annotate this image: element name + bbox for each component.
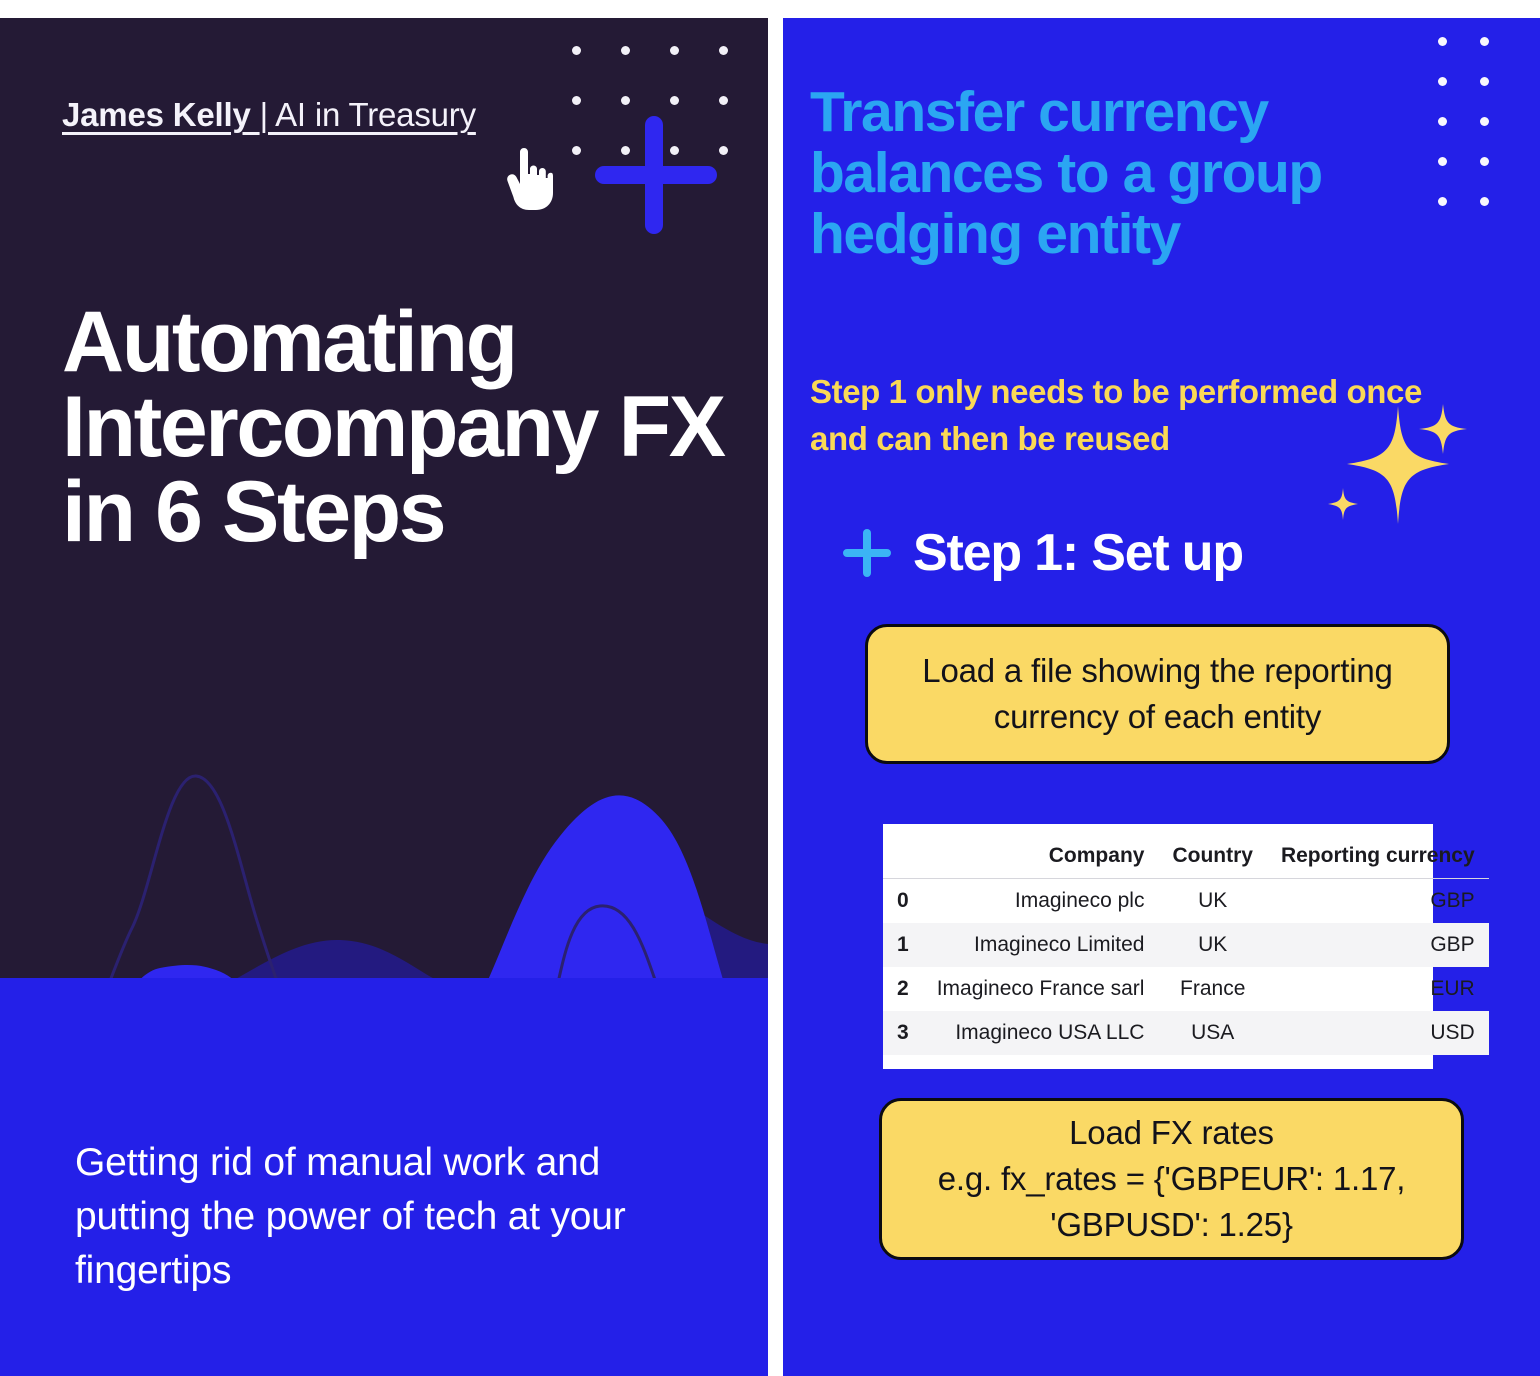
- grid-dot: [621, 46, 630, 55]
- table-row: 1 Imagineco Limited UK GBP: [883, 923, 1489, 967]
- cell-company: Imagineco Limited: [923, 923, 1159, 967]
- step-label: Step 1: Set up: [913, 523, 1243, 583]
- byline-author: James Kelly: [62, 96, 260, 133]
- sparkle-stars-icon: [1323, 396, 1488, 531]
- sparkle-medium: [1419, 404, 1467, 454]
- grid-dot: [1438, 37, 1447, 46]
- step-heading-row: Step 1: Set up: [843, 523, 1243, 583]
- grid-dot: [572, 146, 581, 155]
- slide-pair-canvas: James Kelly | AI in Treasury Automating …: [0, 0, 1540, 1376]
- grid-dot: [719, 96, 728, 105]
- cell-index: 0: [883, 879, 923, 924]
- grid-dot: [572, 46, 581, 55]
- cell-index: 2: [883, 967, 923, 1011]
- table-row: 2 Imagineco France sarl France EUR: [883, 967, 1489, 1011]
- cell-company: Imagineco USA LLC: [923, 1011, 1159, 1055]
- page-title: Automating Intercompany FX in 6 Steps: [62, 300, 742, 555]
- table-row: 3 Imagineco USA LLC USA USD: [883, 1011, 1489, 1055]
- grid-dot: [1480, 157, 1489, 166]
- card-load-fx-rates[interactable]: Load FX rates e.g. fx_rates = {'GBPEUR':…: [879, 1098, 1464, 1260]
- cell-country: UK: [1158, 923, 1267, 967]
- column-header-company: Company: [923, 836, 1159, 879]
- cell-company: Imagineco plc: [923, 879, 1159, 924]
- card-line-2: e.g. fx_rates = {'GBPEUR': 1.17,: [938, 1160, 1406, 1197]
- grid-dot: [1480, 37, 1489, 46]
- sparkle-small: [1328, 488, 1358, 520]
- grid-dot: [670, 96, 679, 105]
- column-header-index: [883, 836, 923, 879]
- byline-topic: | AI in Treasury: [260, 96, 476, 133]
- entity-currency-table: Company Country Reporting currency 0 Ima…: [883, 824, 1433, 1069]
- card-load-entity-file[interactable]: Load a file showing the reporting curren…: [865, 624, 1450, 764]
- cell-currency: GBP: [1267, 923, 1489, 967]
- column-header-country: Country: [1158, 836, 1267, 879]
- left-dark-background: James Kelly | AI in Treasury Automating …: [0, 18, 768, 978]
- table-header-row: Company Country Reporting currency: [883, 836, 1489, 879]
- left-subtitle: Getting rid of manual work and putting t…: [75, 1136, 675, 1297]
- cell-country: USA: [1158, 1011, 1267, 1055]
- column-header-currency: Reporting currency: [1267, 836, 1489, 879]
- pointing-hand-icon: [505, 148, 553, 210]
- grid-dot: [719, 146, 728, 155]
- cell-currency: EUR: [1267, 967, 1489, 1011]
- dot-grid-decoration: [1438, 37, 1522, 237]
- grid-dot: [1480, 197, 1489, 206]
- left-slide-panel: James Kelly | AI in Treasury Automating …: [0, 18, 768, 1376]
- cell-country: France: [1158, 967, 1267, 1011]
- plus-horizontal-bar: [595, 166, 717, 184]
- abstract-wave-graphic: [0, 638, 768, 978]
- cell-company: Imagineco France sarl: [923, 967, 1159, 1011]
- plus-horizontal-bar: [843, 549, 891, 557]
- cell-currency: GBP: [1267, 879, 1489, 924]
- sparkle-large: [1347, 406, 1449, 524]
- right-slide-panel: Transfer currency balances to a group he…: [783, 18, 1540, 1376]
- cell-index: 1: [883, 923, 923, 967]
- grid-dot: [621, 96, 630, 105]
- plus-icon: [595, 116, 717, 234]
- grid-dot: [572, 96, 581, 105]
- cell-index: 3: [883, 1011, 923, 1055]
- cell-country: UK: [1158, 879, 1267, 924]
- cell-currency: USD: [1267, 1011, 1489, 1055]
- plus-icon: [843, 529, 891, 577]
- table-row: 0 Imagineco plc UK GBP: [883, 879, 1489, 924]
- right-heading: Transfer currency balances to a group he…: [810, 82, 1450, 265]
- card-line-3: 'GBPUSD': 1.25}: [1050, 1206, 1293, 1243]
- grid-dot: [1480, 117, 1489, 126]
- grid-dot: [719, 46, 728, 55]
- grid-dot: [1480, 77, 1489, 86]
- card-line-1: Load FX rates: [1069, 1114, 1274, 1151]
- byline: James Kelly | AI in Treasury: [62, 96, 476, 134]
- grid-dot: [670, 46, 679, 55]
- card-text: Load a file showing the reporting curren…: [890, 648, 1425, 740]
